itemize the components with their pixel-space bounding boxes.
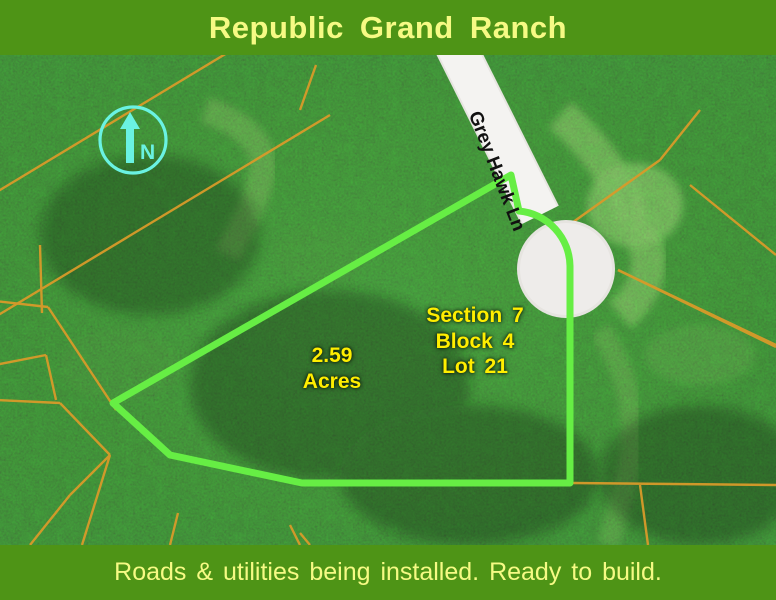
compass-rose: N (96, 103, 170, 177)
lot-info-label: Section 7 Block 4 Lot 21 (380, 303, 570, 380)
lot-section: Section 7 (380, 303, 570, 329)
header-banner: Republic Grand Ranch (0, 0, 776, 55)
lot-number: Lot 21 (380, 354, 570, 380)
map-area[interactable]: N Grey Hawk Ln 2.59 Acres Section 7 Bloc… (0, 55, 776, 545)
footer-banner: Roads & utilities being installed. Ready… (0, 545, 776, 600)
footer-message: Roads & utilities being installed. Ready… (114, 558, 662, 587)
lot-block: Block 4 (380, 329, 570, 355)
north-arrow-icon (120, 112, 140, 163)
road-grey-hawk-ln (455, 55, 615, 318)
compass-north-letter: N (140, 141, 155, 164)
property-map-flyer: Republic Grand Ranch (0, 0, 776, 600)
page-title: Republic Grand Ranch (209, 10, 567, 46)
